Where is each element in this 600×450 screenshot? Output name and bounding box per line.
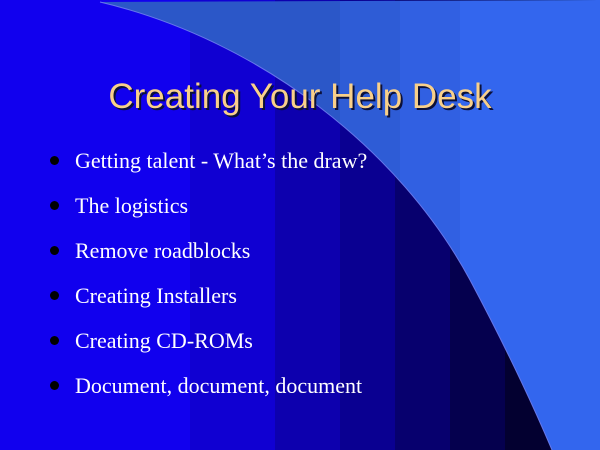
- slide-bullet-list: Getting talent - What’s the draw? The lo…: [44, 138, 580, 408]
- list-item-label: Creating Installers: [75, 285, 237, 307]
- list-item-label: Document, document, document: [75, 375, 362, 397]
- disc-bullet-icon: [50, 246, 59, 255]
- list-item-label: Creating CD-ROMs: [75, 330, 253, 352]
- disc-bullet-icon: [50, 336, 59, 345]
- slide-canvas: Creating Your Help Desk Getting talent -…: [0, 0, 600, 450]
- list-item-label: Remove roadblocks: [75, 240, 250, 262]
- list-item: Getting talent - What’s the draw?: [44, 138, 580, 183]
- list-item: The logistics: [44, 183, 580, 228]
- disc-bullet-icon: [50, 201, 59, 210]
- slide-title: Creating Your Help Desk: [0, 77, 600, 117]
- list-item-label: The logistics: [75, 195, 188, 217]
- list-item: Remove roadblocks: [44, 228, 580, 273]
- disc-bullet-icon: [50, 291, 59, 300]
- list-item: Document, document, document: [44, 363, 580, 408]
- disc-bullet-icon: [50, 156, 59, 165]
- list-item: Creating CD-ROMs: [44, 318, 580, 363]
- list-item: Creating Installers: [44, 273, 580, 318]
- disc-bullet-icon: [50, 381, 59, 390]
- list-item-label: Getting talent - What’s the draw?: [75, 150, 367, 172]
